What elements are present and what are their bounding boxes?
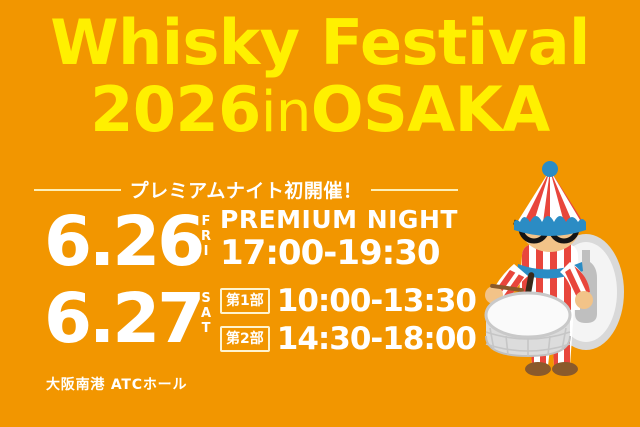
ribbon-rule-left (34, 189, 121, 191)
title-city: OSAKA (311, 73, 550, 146)
ribbon-rule-right (371, 189, 458, 191)
title-in-word: in (261, 80, 311, 145)
dow-letter: A (201, 306, 211, 321)
title-year: 2026 (90, 73, 261, 146)
poster-title: Whisky Festival 2026inOSAKA (0, 14, 640, 140)
date-info-saturday: 第1部 10:00-13:30 第2部 14:30-18:00 (216, 283, 484, 356)
date-list: 6.26 F R I PREMIUM NIGHT 17:00-19:30 6.2… (44, 206, 484, 359)
venue-label: 大阪南港 ATCホール (46, 374, 187, 394)
date-number-saturday: 6.27 (44, 283, 196, 355)
premium-night-time: 17:00-19:30 (220, 234, 484, 272)
shoe-left-icon (525, 362, 551, 376)
session-1-time: 10:00-13:30 (277, 285, 476, 317)
dow-letter: F (202, 214, 211, 229)
date-row-saturday: 6.27 S A T 第1部 10:00-13:30 第2部 14:30-18:… (44, 283, 484, 359)
title-line-2: 2026inOSAKA (0, 81, 640, 140)
date-row-friday: 6.26 F R I PREMIUM NIGHT 17:00-19:30 (44, 206, 484, 282)
title-line-1: Whisky Festival (0, 14, 640, 73)
date-number-friday: 6.26 (44, 206, 196, 278)
premium-night-label: PREMIUM NIGHT (220, 206, 484, 234)
dow-letter: R (201, 229, 211, 244)
day-of-week-saturday: S A T (196, 283, 216, 336)
shoe-right-icon (552, 362, 578, 376)
hat-brim-icon (514, 216, 586, 236)
day-of-week-friday: F R I (196, 206, 216, 259)
session-2-time: 14:30-18:00 (277, 323, 476, 355)
dow-letter: I (204, 244, 209, 259)
mascot-drummer-icon (470, 160, 640, 395)
session-1-badge: 第1部 (220, 288, 270, 314)
party-hat-icon (514, 161, 586, 236)
date-info-friday: PREMIUM NIGHT 17:00-19:30 (216, 206, 484, 272)
session-1: 第1部 10:00-13:30 (220, 283, 484, 318)
dow-letter: S (201, 291, 210, 306)
session-2: 第2部 14:30-18:00 (220, 321, 484, 356)
snare-drum-icon (486, 293, 570, 356)
poster-canvas: Whisky Festival 2026inOSAKA プレミアムナイト初開催！… (0, 0, 640, 427)
dow-letter: T (202, 321, 211, 336)
hand-right-icon (575, 291, 593, 309)
pompom-icon (542, 161, 558, 177)
premium-night-ribbon: プレミアムナイト初開催！ (34, 176, 458, 203)
ribbon-label: プレミアムナイト初開催！ (130, 176, 363, 203)
session-2-badge: 第2部 (220, 326, 270, 352)
